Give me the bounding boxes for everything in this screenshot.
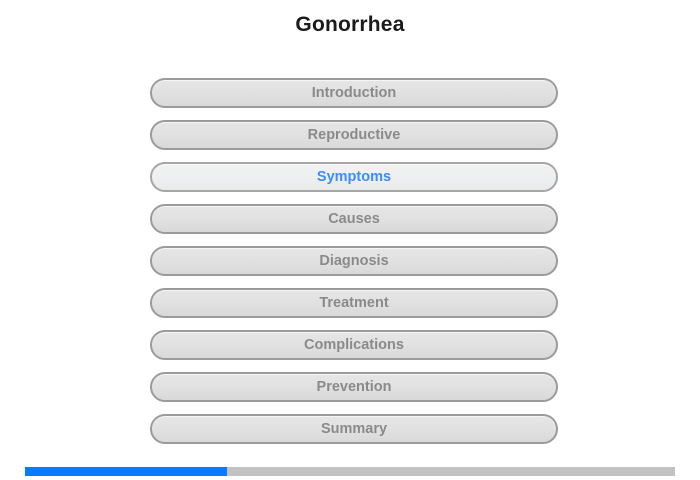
nav-button-label: Reproductive	[308, 128, 401, 143]
nav-button-label: Causes	[328, 212, 380, 227]
progress-bar-fill	[25, 467, 227, 476]
nav-button-label: Diagnosis	[319, 254, 388, 269]
nav-button-label: Summary	[321, 422, 387, 437]
nav-button-introduction[interactable]: Introduction	[150, 78, 558, 108]
nav-button-prevention[interactable]: Prevention	[150, 372, 558, 402]
section-nav-list: IntroductionReproductiveSymptomsCausesDi…	[150, 78, 558, 444]
progress-bar-track[interactable]	[25, 467, 675, 476]
page-title: Gonorrhea	[0, 0, 700, 38]
nav-button-label: Introduction	[312, 86, 397, 101]
nav-button-diagnosis[interactable]: Diagnosis	[150, 246, 558, 276]
nav-button-treatment[interactable]: Treatment	[150, 288, 558, 318]
nav-button-causes[interactable]: Causes	[150, 204, 558, 234]
nav-button-label: Treatment	[319, 296, 388, 311]
nav-button-complications[interactable]: Complications	[150, 330, 558, 360]
slide-page: Gonorrhea IntroductionReproductiveSympto…	[0, 0, 700, 480]
nav-button-label: Symptoms	[317, 170, 391, 185]
nav-button-label: Complications	[304, 338, 404, 353]
nav-button-label: Prevention	[317, 380, 392, 395]
nav-button-summary[interactable]: Summary	[150, 414, 558, 444]
nav-button-reproductive[interactable]: Reproductive	[150, 120, 558, 150]
nav-button-symptoms[interactable]: Symptoms	[150, 162, 558, 192]
